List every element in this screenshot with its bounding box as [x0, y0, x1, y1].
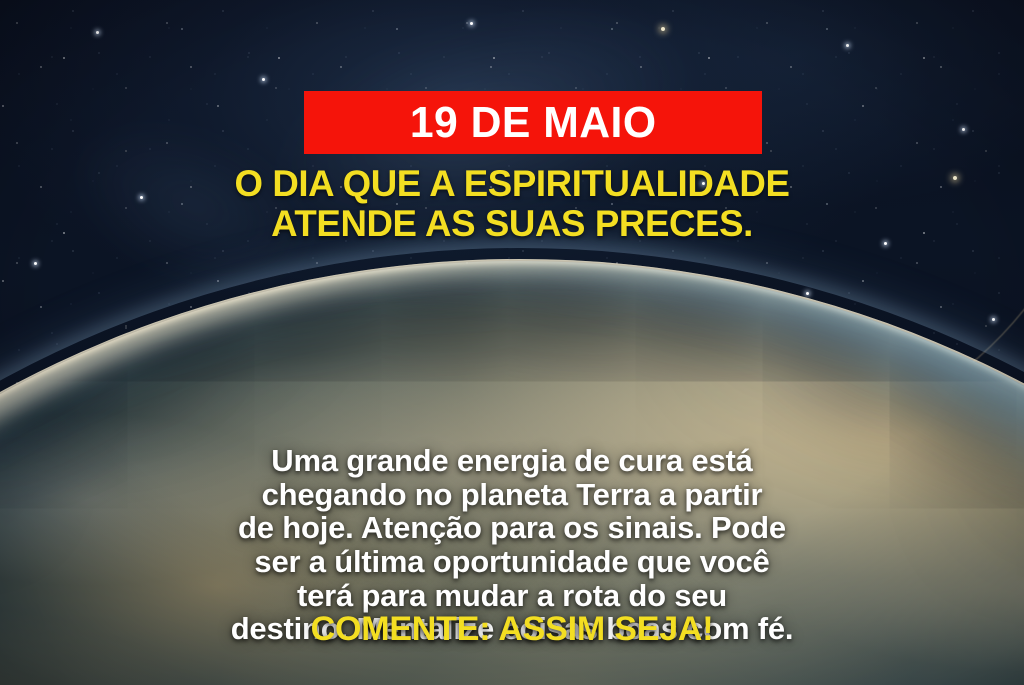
call-to-action-text: COMENTE: ASSIM SEJA! — [0, 612, 1024, 646]
body-line-4: ser a última oportunidade que você — [0, 545, 1024, 579]
headline-line-1: O DIA QUE A ESPIRITUALIDADE — [5, 164, 1019, 204]
poster-canvas: 19 DE MAIO O DIA QUE A ESPIRITUALIDADE A… — [0, 0, 1024, 685]
date-banner-label: 19 DE MAIO — [410, 101, 657, 145]
body-line-5: terá para mudar a rota do seu — [0, 579, 1024, 613]
headline-line-2: ATENDE AS SUAS PRECES. — [5, 204, 1019, 244]
body-line-2: chegando no planeta Terra a partir — [0, 478, 1024, 512]
headline: O DIA QUE A ESPIRITUALIDADE ATENDE AS SU… — [0, 164, 1024, 243]
body-line-1: Uma grande energia de cura está — [0, 444, 1024, 478]
body-line-3: de hoje. Atenção para os sinais. Pode — [0, 511, 1024, 545]
poster-content: 19 DE MAIO O DIA QUE A ESPIRITUALIDADE A… — [0, 0, 1024, 685]
date-banner: 19 DE MAIO — [304, 91, 762, 154]
